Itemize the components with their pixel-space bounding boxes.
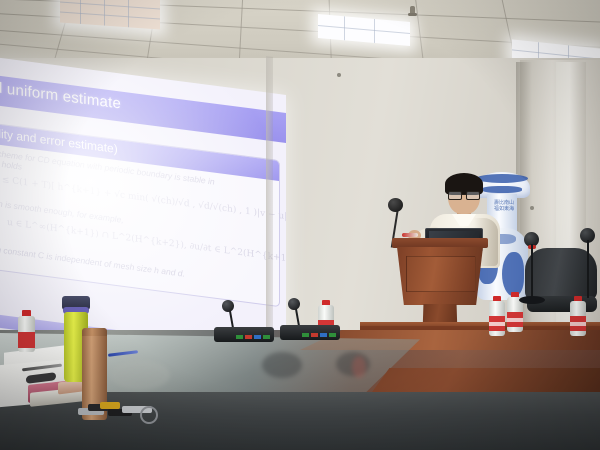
theorem-box: bility and error estimate) scheme for CD… bbox=[0, 123, 280, 308]
conference-microphone-unit[interactable] bbox=[280, 298, 340, 340]
bottle-label-stripe bbox=[570, 322, 586, 326]
water-bottle[interactable] bbox=[570, 296, 586, 336]
microphone-rod bbox=[531, 244, 533, 302]
wall-fixture-dot bbox=[337, 73, 341, 77]
conference-room-photo: d uniform estimate bility and error esti… bbox=[0, 0, 600, 450]
glasses-icon bbox=[448, 191, 480, 198]
table-reflection bbox=[352, 356, 366, 378]
water-bottle[interactable] bbox=[18, 310, 35, 352]
screen-right-edge bbox=[266, 56, 273, 337]
bottle-label bbox=[18, 332, 35, 348]
microphone-head-icon bbox=[388, 198, 403, 212]
gooseneck-microphone bbox=[530, 232, 534, 302]
table-reflection bbox=[110, 360, 170, 390]
bottle-label-stripe bbox=[507, 318, 523, 322]
lectern-front-panel bbox=[406, 256, 476, 292]
microphone-head-icon bbox=[288, 298, 300, 310]
lectern-top bbox=[392, 238, 488, 248]
keyring-loop bbox=[140, 406, 158, 424]
microphone-led-row bbox=[236, 335, 270, 339]
microphone-head-icon bbox=[222, 300, 234, 312]
microphone-base bbox=[519, 296, 545, 304]
sprinkler-icon bbox=[410, 6, 415, 15]
gooseneck-microphone bbox=[586, 228, 590, 298]
table-reflection bbox=[262, 352, 302, 378]
slide-body-line: ding constant C is independent of mesh s… bbox=[0, 243, 185, 279]
slide-math-line: T)‖ ≤ C(1 + T)[ h^{k+1} + √c min( √(ch)/… bbox=[0, 173, 286, 228]
wall-fixture-dot bbox=[530, 206, 534, 210]
water-bottle[interactable] bbox=[489, 296, 505, 336]
conference-microphone-unit[interactable] bbox=[214, 300, 274, 342]
key-ring[interactable] bbox=[78, 400, 154, 422]
microphone-rod bbox=[587, 240, 589, 298]
microphone-led-row bbox=[302, 333, 336, 337]
thermos-lid bbox=[82, 328, 107, 336]
bottle-label-stripe bbox=[489, 322, 505, 326]
